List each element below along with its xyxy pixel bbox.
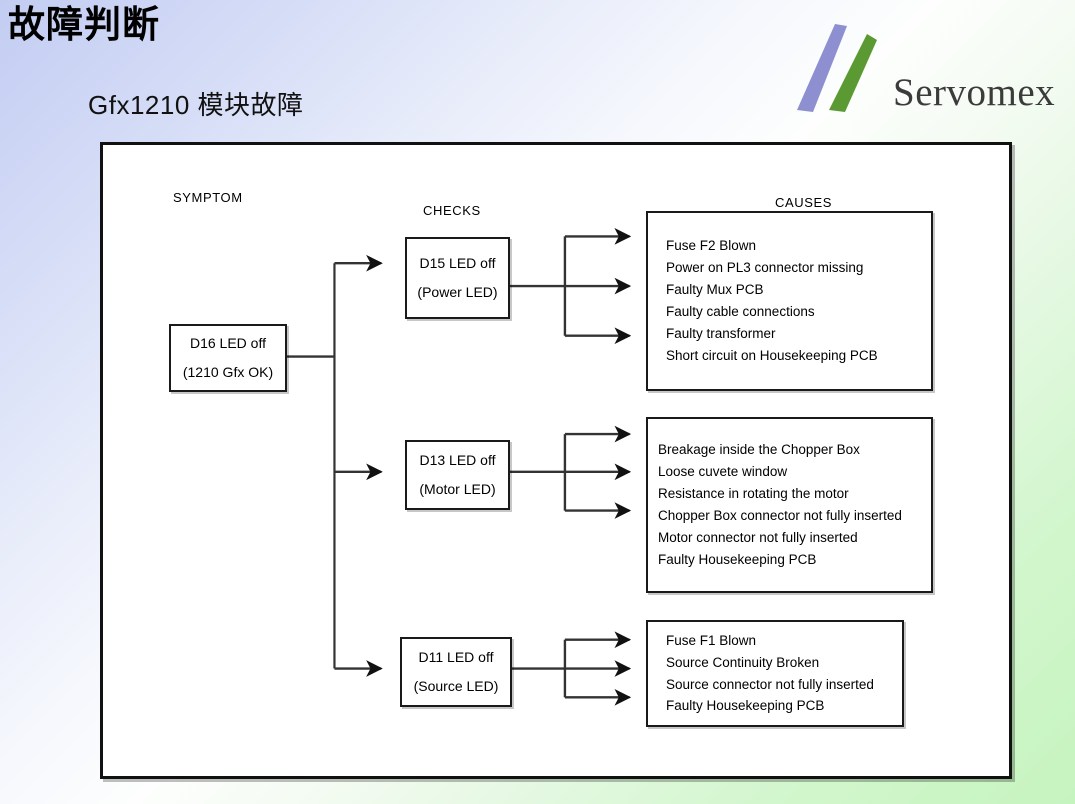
check-node-source[interactable]: D11 LED off (Source LED) bbox=[400, 637, 512, 707]
cause-item: Faulty cable connections bbox=[666, 301, 917, 323]
check-node-power-line1: D15 LED off bbox=[419, 256, 495, 271]
cause-box-source[interactable]: Fuse F1 Blown Source Continuity Broken S… bbox=[646, 620, 904, 727]
cause-item: Fuse F2 Blown bbox=[666, 235, 917, 257]
page-title: 故障判断 bbox=[8, 4, 160, 47]
cause-item: Source connector not fully inserted bbox=[666, 674, 888, 696]
cause-item: Faulty transformer bbox=[666, 323, 917, 345]
cause-item: Power on PL3 connector missing bbox=[666, 257, 917, 279]
cause-item: Fuse F1 Blown bbox=[666, 630, 888, 652]
check-node-motor-line2: (Motor LED) bbox=[419, 482, 495, 497]
cause-box-motor[interactable]: Breakage inside the Chopper Box Loose cu… bbox=[646, 417, 933, 593]
cause-item: Faulty Housekeeping PCB bbox=[658, 549, 917, 571]
column-header-checks: CHECKS bbox=[423, 203, 481, 218]
cause-item: Motor connector not fully inserted bbox=[658, 527, 917, 549]
diagram-panel: SYMPTOM CHECKS CAUSES D16 LED off (1210 … bbox=[100, 142, 1012, 779]
check-node-source-line2: (Source LED) bbox=[414, 679, 499, 694]
check-node-power[interactable]: D15 LED off (Power LED) bbox=[405, 237, 510, 319]
symptom-node-line1: D16 LED off bbox=[190, 336, 266, 351]
page-subtitle: Gfx1210 模块故障 bbox=[88, 85, 304, 122]
column-header-symptom: SYMPTOM bbox=[173, 190, 243, 205]
symptom-node-line2: (1210 Gfx OK) bbox=[183, 365, 273, 380]
cause-item: Chopper Box connector not fully inserted bbox=[658, 505, 917, 527]
brand-logo: Servomex bbox=[781, 22, 1061, 122]
cause-item: Faulty Housekeeping PCB bbox=[666, 695, 888, 717]
cause-item: Faulty Mux PCB bbox=[666, 279, 917, 301]
cause-item: Loose cuvete window bbox=[658, 461, 917, 483]
check-node-motor[interactable]: D13 LED off (Motor LED) bbox=[405, 440, 510, 510]
cause-item: Breakage inside the Chopper Box bbox=[658, 439, 917, 461]
brand-name: Servomex bbox=[893, 70, 1055, 115]
check-node-source-line1: D11 LED off bbox=[419, 650, 494, 665]
cause-box-power[interactable]: Fuse F2 Blown Power on PL3 connector mis… bbox=[646, 211, 933, 391]
servomex-mark-icon bbox=[791, 22, 901, 114]
cause-item: Resistance in rotating the motor bbox=[658, 483, 917, 505]
cause-item: Short circuit on Housekeeping PCB bbox=[666, 345, 917, 367]
check-node-motor-line1: D13 LED off bbox=[419, 453, 495, 468]
column-header-causes: CAUSES bbox=[775, 195, 832, 210]
cause-item: Source Continuity Broken bbox=[666, 652, 888, 674]
check-node-power-line2: (Power LED) bbox=[417, 285, 497, 300]
symptom-node[interactable]: D16 LED off (1210 Gfx OK) bbox=[169, 324, 287, 392]
